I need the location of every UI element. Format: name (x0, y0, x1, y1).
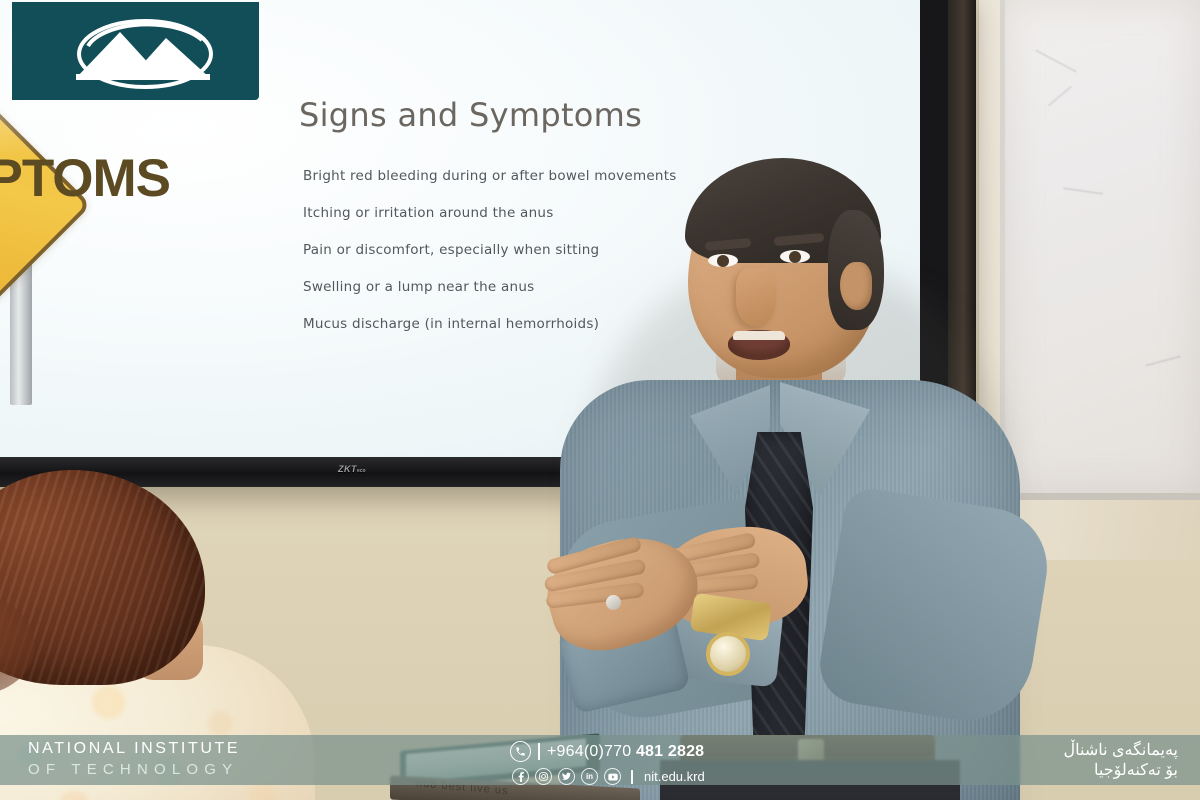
linkedin-glyph: in (586, 773, 593, 781)
presenter-ring (606, 595, 621, 610)
slide-title: Signs and Symptoms (299, 96, 642, 134)
road-sign-label: PTOMS (0, 148, 170, 209)
presenter-nose (736, 268, 776, 326)
footer-divider-2 (631, 770, 633, 784)
footer-divider (538, 743, 540, 760)
phone-bold: 481 2828 (636, 743, 704, 760)
institute-logo (12, 2, 259, 100)
footer-social-row: in nit.edu.krd (512, 768, 705, 785)
footer-overlay-bar: NATIONAL INSTITUTE OF TECHNOLOGY +964(0)… (0, 735, 1200, 785)
youtube-glyph (608, 773, 618, 781)
facebook-glyph (517, 772, 525, 782)
whiteboard-scuff (1048, 86, 1072, 107)
facebook-icon[interactable] (512, 768, 529, 785)
footer-org-line1: NATIONAL INSTITUTE (28, 740, 240, 758)
whiteboard-scuff (1063, 187, 1103, 194)
whiteboard-scuff (1035, 49, 1077, 72)
presenter-eye (780, 250, 810, 263)
instagram-icon[interactable] (535, 768, 552, 785)
twitter-glyph (562, 772, 571, 781)
footer-kurdish-name: پەیمانگەی ناشناڵ بۆ تەکنەلۆجیا (1063, 741, 1178, 781)
presenter-ear (840, 262, 872, 310)
youtube-icon[interactable] (604, 768, 621, 785)
footer-kurdish-line1: پەیمانگەی ناشناڵ (1063, 741, 1178, 761)
phone-prefix: +964(0)770 (547, 743, 636, 760)
footer-phone-number[interactable]: +964(0)770 481 2828 (547, 743, 704, 761)
footer-kurdish-line2: بۆ تەکنەلۆجیا (1063, 761, 1178, 781)
footer-contact: +964(0)770 481 2828 in (510, 741, 705, 785)
footer-website[interactable]: nit.edu.krd (644, 769, 705, 784)
footer-org-name: NATIONAL INSTITUTE OF TECHNOLOGY (28, 740, 240, 778)
footer-phone-row: +964(0)770 481 2828 (510, 741, 705, 762)
mountain-logo-icon (70, 16, 220, 94)
presenter-eye (708, 254, 738, 267)
whiteboard-scuff (1145, 355, 1180, 366)
presenter-teeth (733, 331, 785, 340)
phone-icon (510, 741, 531, 762)
twitter-icon[interactable] (558, 768, 575, 785)
screenshot-root: PTOMS Signs and Symptoms Bright red blee… (0, 0, 1200, 800)
linkedin-icon[interactable]: in (581, 768, 598, 785)
whiteboard (1000, 0, 1200, 500)
presenter (540, 150, 1020, 800)
phone-glyph (515, 746, 526, 757)
footer-org-line2: OF TECHNOLOGY (28, 761, 240, 778)
instagram-glyph (539, 772, 548, 781)
